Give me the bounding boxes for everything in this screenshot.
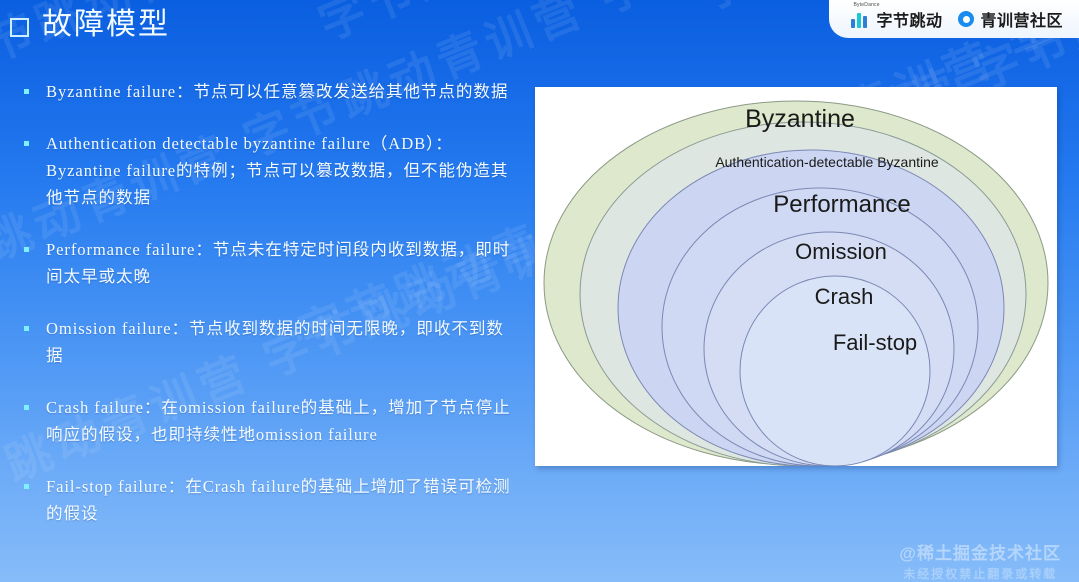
page-title: 故障模型 (10, 10, 170, 40)
footer-watermark: @稀土掘金技术社区 未经授权禁止翻录或转载 (899, 539, 1061, 582)
list-item-text: Omission failure：节点收到数据的时间无限晚，即收不到数据 (46, 315, 518, 369)
ellipse-label-adb: Authentication-detectable Byzantine (715, 154, 939, 170)
ellipse-label-performance: Performance (773, 191, 910, 218)
footer-watermark-line2: 未经授权禁止翻录或转载 (899, 565, 1061, 582)
bullet-marker-icon (24, 484, 29, 489)
list-item: Fail-stop failure：在Crash failure的基础上增加了错… (18, 473, 518, 527)
ellipse-label-crash: Crash (815, 284, 874, 309)
list-item: Omission failure：节点收到数据的时间无限晚，即收不到数据 (18, 315, 518, 369)
ellipse-label-failstop: Fail-stop (833, 330, 917, 355)
community-brand: 青训营社区 (958, 7, 1063, 31)
failure-model-diagram-panel: Byzantine Authentication-detectable Byza… (535, 87, 1057, 466)
list-item-text: Crash failure：在omission failure的基础上，增加了节… (46, 394, 518, 448)
bytedance-superscript: ByteDance (853, 2, 879, 8)
bullet-marker-icon (24, 326, 29, 331)
square-outline-icon (10, 18, 29, 37)
ellipse-label-omission: Omission (795, 239, 887, 264)
bullet-list: Byzantine failure：节点可以任意篡改发送给其他节点的数据 Aut… (18, 78, 518, 552)
list-item: Crash failure：在omission failure的基础上，增加了节… (18, 394, 518, 448)
bytedance-brand: ByteDance 字节跳动 (851, 7, 942, 31)
bullet-marker-icon (24, 141, 29, 146)
list-item: Byzantine failure：节点可以任意篡改发送给其他节点的数据 (18, 78, 518, 105)
brand-badge: ByteDance 字节跳动 青训营社区 (829, 0, 1079, 38)
community-label: 青训营社区 (980, 7, 1063, 31)
bullet-marker-icon (24, 247, 29, 252)
list-item-text: Authentication detectable byzantine fail… (46, 130, 518, 211)
page-title-text: 故障模型 (42, 10, 170, 40)
bullet-marker-icon (24, 405, 29, 410)
bullet-marker-icon (24, 89, 29, 94)
list-item: Performance failure：节点未在特定时间段内收到数据，即时间太早… (18, 236, 518, 290)
nested-ellipse-diagram: Byzantine Authentication-detectable Byza… (535, 87, 1057, 466)
bytedance-bars-logo-icon: ByteDance (851, 11, 870, 28)
footer-watermark-line1: @稀土掘金技术社区 (899, 539, 1061, 564)
bytedance-label: 字节跳动 (876, 7, 942, 31)
ellipse-label-byzantine: Byzantine (745, 105, 855, 133)
list-item-text: Fail-stop failure：在Crash failure的基础上增加了错… (46, 473, 518, 527)
list-item-text: Performance failure：节点未在特定时间段内收到数据，即时间太早… (46, 236, 518, 290)
list-item: Authentication detectable byzantine fail… (18, 130, 518, 211)
list-item-text: Byzantine failure：节点可以任意篡改发送给其他节点的数据 (46, 78, 508, 105)
community-circle-logo-icon (958, 11, 974, 27)
slide-root: 字节跳动青训营 字节跳动青训营 字节跳动青训营 字节跳动青训营 字节跳动青训营 … (0, 0, 1079, 582)
